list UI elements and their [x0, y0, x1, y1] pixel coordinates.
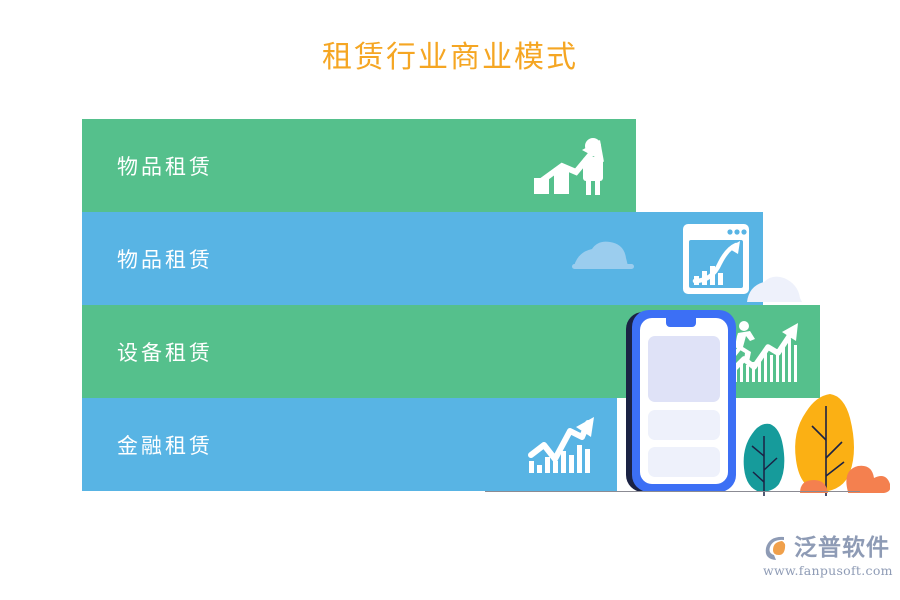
bar-label: 物品租赁	[117, 244, 213, 274]
brand-name: 泛普软件	[794, 535, 890, 561]
fanpu-c-mark-icon	[762, 534, 790, 562]
bar-label: 设备租赁	[117, 337, 213, 367]
browser-growth-chart-icon	[682, 223, 750, 295]
bar-row[interactable]: 设备租赁	[82, 305, 820, 398]
bar-row[interactable]: 物品租赁	[82, 212, 763, 305]
running-person-growth-icon	[726, 319, 804, 385]
bar-row[interactable]: 金融租赁	[82, 398, 617, 491]
cloud-small-icon	[572, 240, 634, 270]
bar-chart: 物品租赁 物品租赁	[82, 119, 842, 492]
brand-logo[interactable]: 泛普软件 www.fanpusoft.com	[762, 534, 894, 584]
bar-row[interactable]: 物品租赁	[82, 119, 636, 212]
ground-line	[485, 491, 860, 492]
bar-chart-person-icon	[532, 136, 618, 196]
brand-logo-top: 泛普软件	[762, 534, 890, 562]
bar-label: 物品租赁	[117, 151, 213, 181]
growth-arrow-chart-icon	[528, 415, 600, 475]
poster-canvas: 租赁行业商业模式 物品租赁	[0, 0, 900, 600]
bar-label: 金融租赁	[117, 430, 213, 460]
page-title: 租赁行业商业模式	[0, 38, 900, 78]
brand-url: www.fanpusoft.com	[763, 563, 893, 578]
